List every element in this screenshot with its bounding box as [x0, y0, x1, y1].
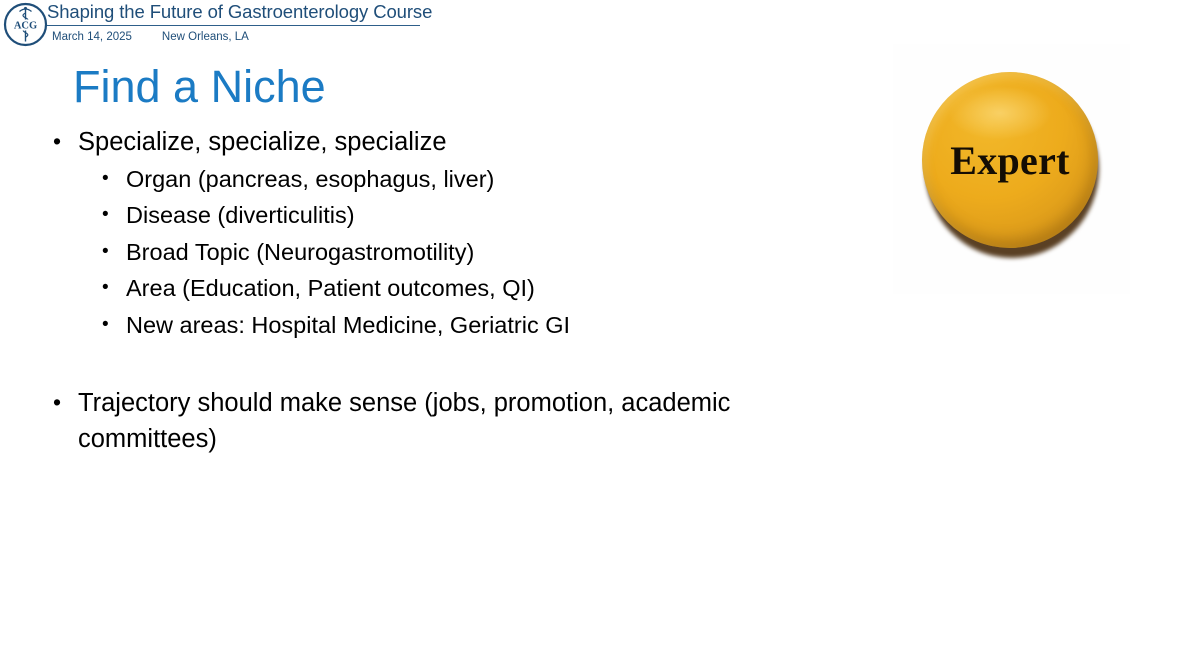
header-divider: [47, 25, 420, 26]
bullet-level2-new-areas: New areas: Hospital Medicine, Geriatric …: [50, 307, 870, 343]
course-title: Shaping the Future of Gastroenterology C…: [47, 1, 447, 23]
acg-logo-letters: ACG: [14, 21, 37, 32]
course-date: March 14, 2025: [52, 31, 132, 43]
slide-body: Specialize, specialize, specialize Organ…: [50, 124, 870, 457]
bullet-level2-broad-topic: Broad Topic (Neurogastromotility): [50, 234, 870, 270]
bullet-sublist: Organ (pancreas, esophagus, liver) Disea…: [50, 161, 870, 343]
bullet-spacer: [50, 343, 870, 385]
bullet-level1-specialize: Specialize, specialize, specialize: [50, 124, 870, 160]
pin-label-text: Expert: [922, 72, 1098, 248]
bullet-level2-organ: Organ (pancreas, esophagus, liver): [50, 161, 870, 197]
bullet-level2-area: Area (Education, Patient outcomes, QI): [50, 270, 870, 306]
bullet-level2-disease: Disease (diverticulitis): [50, 197, 870, 233]
pin-body: Expert: [922, 72, 1098, 248]
header-text-block: Shaping the Future of Gastroenterology C…: [47, 1, 447, 43]
course-location: New Orleans, LA: [162, 31, 249, 43]
bullet-level1-trajectory: Trajectory should make sense (jobs, prom…: [50, 385, 870, 457]
header-meta: March 14, 2025New Orleans, LA: [47, 31, 447, 43]
page-title: Find a Niche: [73, 58, 326, 116]
acg-logo: ACG: [3, 2, 48, 47]
expert-pin-image: Expert: [893, 44, 1130, 294]
